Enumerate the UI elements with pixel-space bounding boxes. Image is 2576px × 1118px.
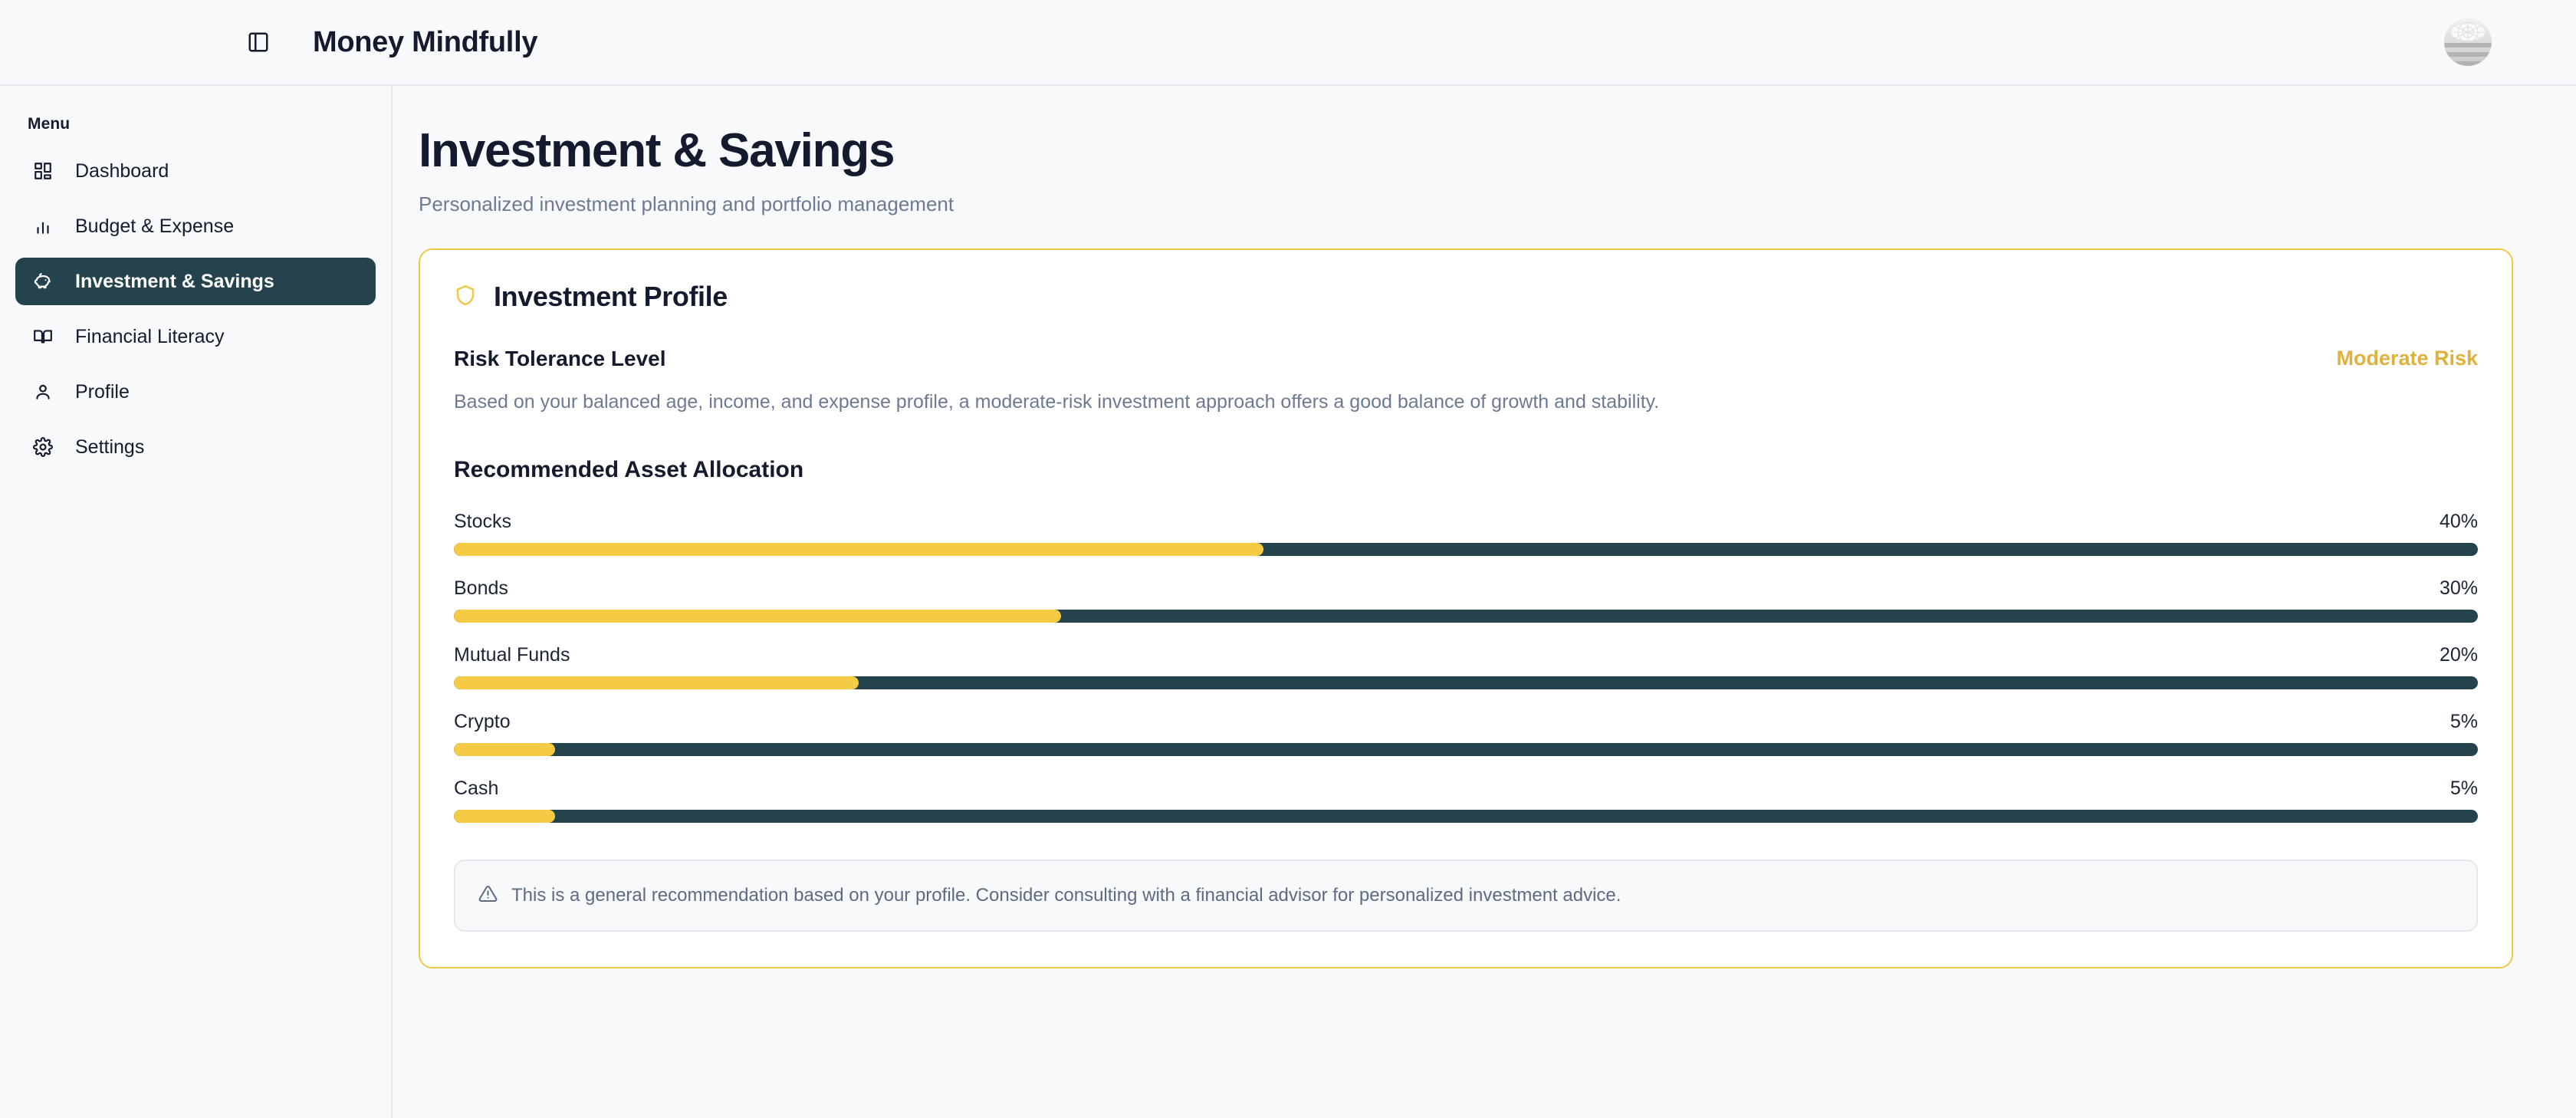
risk-level-badge[interactable]: Moderate Risk bbox=[2336, 347, 2478, 370]
card-title: Investment Profile bbox=[494, 281, 728, 313]
risk-description: Based on your balanced age, income, and … bbox=[454, 390, 2478, 416]
allocation-progress-track bbox=[454, 810, 2478, 823]
disclaimer-text: This is a general recommendation based o… bbox=[511, 885, 1621, 906]
allocation-row: Mutual Funds 20% bbox=[454, 644, 2478, 689]
allocation-progress-fill bbox=[454, 743, 555, 756]
risk-tolerance-heading: Risk Tolerance Level bbox=[454, 347, 666, 371]
sidebar-nav: Menu Dashboard Budget & Expense bbox=[0, 86, 393, 1118]
alert-triangle-icon bbox=[478, 884, 498, 907]
allocation-value: 40% bbox=[2440, 511, 2478, 533]
sidebar-item-settings[interactable]: Settings bbox=[15, 423, 376, 471]
investment-profile-card: Investment Profile Risk Tolerance Level … bbox=[419, 248, 2513, 968]
sidebar-item-dashboard[interactable]: Dashboard bbox=[15, 147, 376, 195]
grid-icon bbox=[31, 159, 55, 183]
sidebar-panel-icon[interactable] bbox=[244, 28, 273, 57]
header-left-group: Money Mindfully bbox=[0, 26, 537, 59]
page-subtitle: Personalized investment planning and por… bbox=[419, 192, 2513, 216]
allocation-progress-fill bbox=[454, 810, 555, 823]
sidebar-item-label: Financial Literacy bbox=[75, 326, 225, 348]
allocation-list: Stocks 40% Bonds 30% bbox=[454, 511, 2478, 823]
allocation-label: Bonds bbox=[454, 577, 508, 600]
app-shell: Menu Dashboard Budget & Expense bbox=[0, 86, 2576, 1118]
main-content: Investment & Savings Personalized invest… bbox=[393, 86, 2576, 1118]
user-icon bbox=[31, 380, 55, 404]
allocation-value: 30% bbox=[2440, 577, 2478, 600]
sidebar-item-profile[interactable]: Profile bbox=[15, 368, 376, 416]
sidebar-item-label: Budget & Expense bbox=[75, 215, 234, 238]
top-header-bar: Money Mindfully bbox=[0, 0, 2576, 86]
allocation-row: Bonds 30% bbox=[454, 577, 2478, 623]
page-title: Investment & Savings bbox=[419, 126, 2513, 176]
allocation-value: 5% bbox=[2450, 778, 2478, 800]
risk-tolerance-row: Risk Tolerance Level Moderate Risk bbox=[454, 347, 2478, 371]
allocation-label: Mutual Funds bbox=[454, 644, 570, 666]
allocation-progress-fill bbox=[454, 543, 1263, 556]
allocation-row: Crypto 5% bbox=[454, 711, 2478, 756]
user-avatar[interactable] bbox=[2444, 18, 2492, 66]
app-title: Money Mindfully bbox=[313, 26, 537, 59]
sidebar-item-investment-savings[interactable]: Investment & Savings bbox=[15, 258, 376, 305]
allocation-row: Cash 5% bbox=[454, 778, 2478, 823]
allocation-progress-fill bbox=[454, 610, 1061, 623]
allocation-value: 20% bbox=[2440, 644, 2478, 666]
allocation-value: 5% bbox=[2450, 711, 2478, 733]
open-book-icon bbox=[31, 324, 55, 349]
allocation-label: Cash bbox=[454, 778, 498, 800]
allocation-progress-track bbox=[454, 676, 2478, 689]
piggy-bank-icon bbox=[31, 269, 55, 294]
card-header: Investment Profile bbox=[454, 281, 2478, 313]
sidebar-item-label: Profile bbox=[75, 381, 130, 403]
allocation-label: Crypto bbox=[454, 711, 511, 733]
allocation-heading: Recommended Asset Allocation bbox=[454, 457, 2478, 483]
gear-icon bbox=[31, 435, 55, 459]
allocation-progress-track bbox=[454, 610, 2478, 623]
bar-chart-icon bbox=[31, 214, 55, 238]
menu-section-label: Menu bbox=[15, 115, 376, 147]
sidebar-item-financial-literacy[interactable]: Financial Literacy bbox=[15, 313, 376, 360]
sidebar-item-label: Investment & Savings bbox=[75, 271, 274, 293]
allocation-progress-track bbox=[454, 743, 2478, 756]
sidebar-item-label: Dashboard bbox=[75, 160, 169, 182]
allocation-label: Stocks bbox=[454, 511, 511, 533]
disclaimer-notice: This is a general recommendation based o… bbox=[454, 860, 2478, 932]
allocation-progress-track bbox=[454, 543, 2478, 556]
allocation-row: Stocks 40% bbox=[454, 511, 2478, 556]
shield-icon bbox=[454, 284, 477, 311]
allocation-progress-fill bbox=[454, 676, 859, 689]
sidebar-item-budget-expense[interactable]: Budget & Expense bbox=[15, 202, 376, 250]
sidebar-item-label: Settings bbox=[75, 436, 144, 459]
